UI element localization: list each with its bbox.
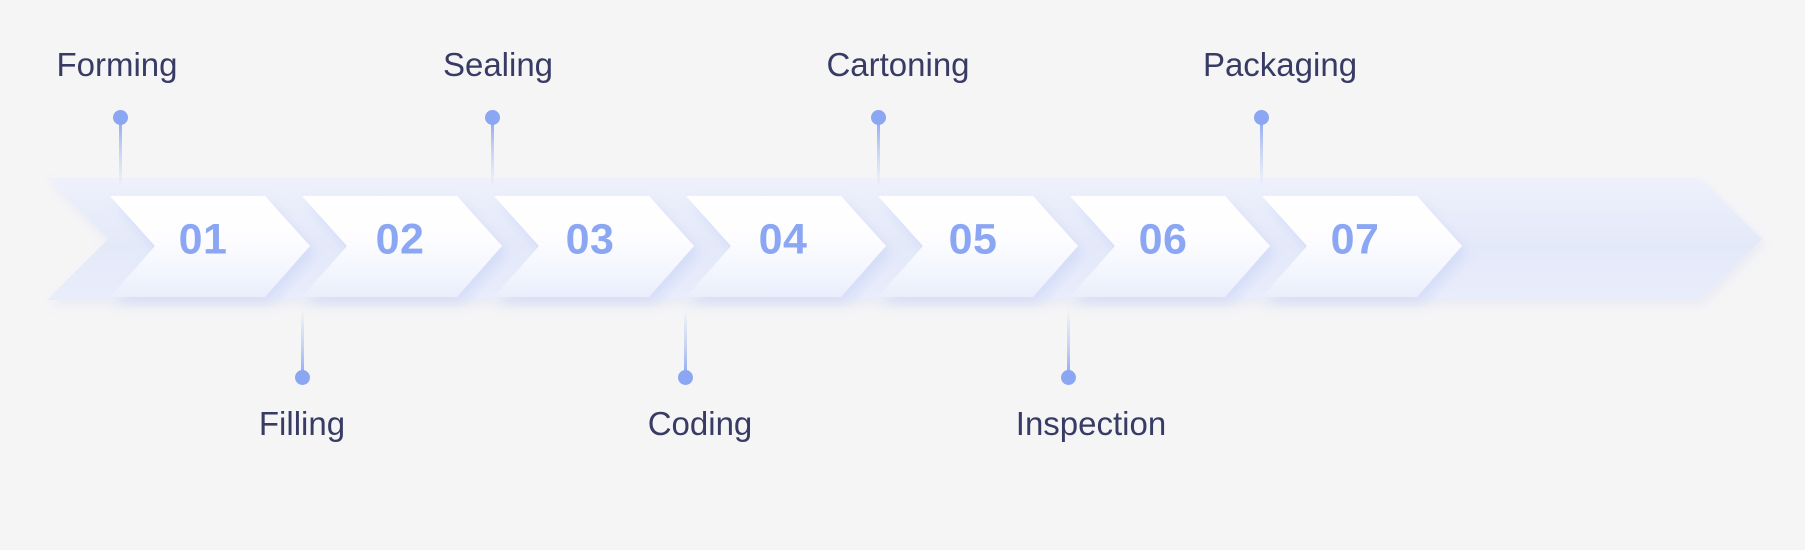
step-number: 01 — [179, 219, 228, 262]
pin-line-icon — [1067, 310, 1070, 378]
step-label-packaging: Packaging — [1203, 48, 1357, 81]
connector-pin-up — [1253, 110, 1269, 185]
step-number: 06 — [1139, 219, 1188, 262]
connector-pin-up — [484, 110, 500, 185]
step-label-inspection: Inspection — [1016, 407, 1166, 440]
connector-pin-down — [1060, 310, 1076, 390]
step-label-sealing: Sealing — [443, 48, 553, 81]
step-label-cartoning: Cartoning — [826, 48, 969, 81]
step-label-coding: Coding — [648, 407, 753, 440]
connector-pin-up — [870, 110, 886, 185]
pin-dot-icon — [1061, 370, 1076, 385]
step-number: 02 — [376, 219, 425, 262]
connector-pin-down — [677, 310, 693, 390]
pin-line-icon — [301, 310, 304, 378]
pin-line-icon — [684, 310, 687, 378]
connector-pin-down — [294, 310, 310, 390]
connector-pin-up — [112, 110, 128, 185]
step-number: 05 — [949, 219, 998, 262]
pin-dot-icon — [678, 370, 693, 385]
pin-line-icon — [1260, 118, 1263, 186]
process-flow-diagram: 01 02 03 04 05 06 07 Forming Sealing Car… — [0, 0, 1805, 550]
pin-line-icon — [119, 118, 122, 186]
step-number: 07 — [1331, 219, 1380, 262]
pin-dot-icon — [295, 370, 310, 385]
pin-line-icon — [491, 118, 494, 186]
step-label-filling: Filling — [259, 407, 345, 440]
step-number: 03 — [566, 219, 615, 262]
pin-line-icon — [877, 118, 880, 186]
step-number: 04 — [759, 219, 808, 262]
step-label-forming: Forming — [56, 48, 177, 81]
